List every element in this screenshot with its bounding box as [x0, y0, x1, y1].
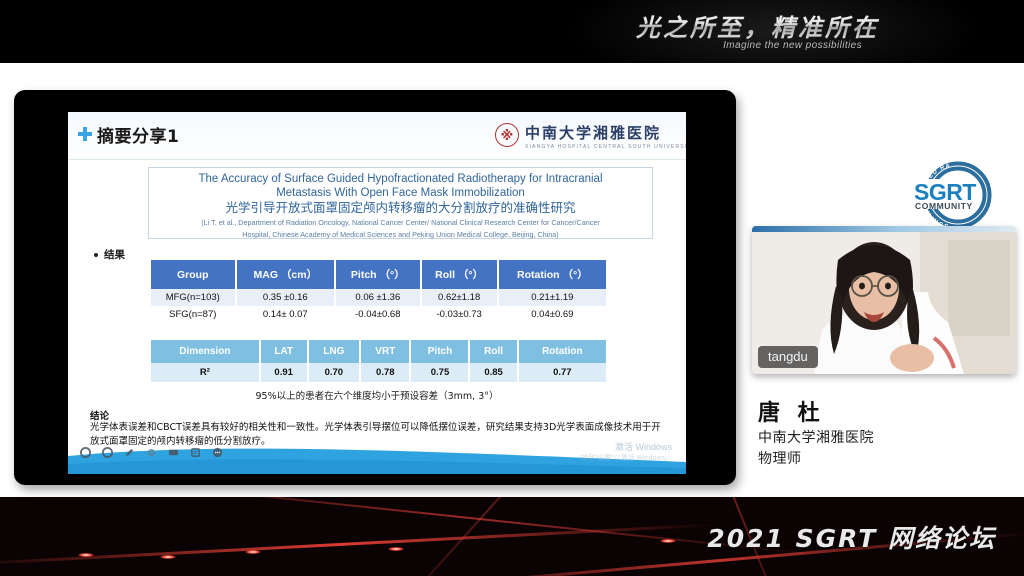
table-cell: 0.78 [360, 363, 410, 382]
table-cell: MFG(n=103) [151, 289, 236, 306]
sgrt-community-word: COMMUNITY [915, 201, 973, 211]
presenter-role: 物理师 [758, 448, 802, 468]
pointer-icon[interactable] [146, 447, 157, 458]
study-affiliation-line2: Hospital, Chinese Academy of Medical Sci… [155, 230, 646, 240]
column-header: Dimension [151, 340, 260, 363]
table-cell: 0.21±1.19 [498, 289, 606, 306]
table-cell: 0.70 [308, 363, 361, 382]
participant-name-tag: tangdu [758, 346, 818, 368]
watermark-line1: 激活 Windows [581, 442, 672, 453]
pen-icon[interactable] [124, 447, 135, 458]
bullet-dot-icon [94, 253, 98, 257]
table-cell: -0.03±0.73 [421, 306, 498, 323]
table-cell: SFG(n=87) [151, 306, 236, 323]
laser-beam [0, 523, 720, 566]
sgrt-community-logo: SURFACE GUIDED RADIATION THERAPY SGRT CO… [906, 159, 1002, 229]
column-header: Pitch [410, 340, 469, 363]
laser-dot [388, 547, 404, 551]
table-cell: 0.06 ±1.36 [335, 289, 421, 306]
taskbar-icons[interactable] [80, 447, 223, 458]
hospital-name-cn: 中南大学湘雅医院 [525, 122, 661, 143]
table-cell: 0.77 [518, 363, 606, 382]
study-affiliation-line1: (Li T. et al., Department of Radiation O… [155, 218, 646, 228]
brand-slogan-en: Imagine the new possibilities [723, 40, 862, 51]
column-header: Group [151, 260, 236, 289]
hospital-name-en: XIANGYA HOSPITAL CENTRAL SOUTH UNIVERSIT… [525, 144, 686, 150]
tolerance-note: 95%以上的患者在六个维度均小于预设容差（3mm, 3°） [68, 388, 686, 402]
table-row: SFG(n=87)0.14± 0.07-0.04±0.68-0.03±0.730… [151, 306, 606, 323]
column-header: Rotation （°） [498, 260, 606, 289]
table-cell: R² [151, 363, 260, 382]
windows-activation-watermark: 激活 Windows 转到"设置"以激活 Windows。 [581, 442, 672, 464]
table-cell: 0.85 [469, 363, 517, 382]
laser-dot [245, 550, 261, 554]
event-title: 2021 SGRT 网络论坛 [707, 519, 996, 555]
note-icon[interactable] [190, 447, 201, 458]
column-header: Rotation [518, 340, 606, 363]
slide-header: 摘要分享1 ※ 中南大学湘雅医院 XIANGYA HOSPITAL CENTRA… [68, 112, 686, 160]
table-cell: 0.35 ±0.16 [236, 289, 336, 306]
circle-icon[interactable] [80, 447, 91, 458]
top-branding-banner: 光之所至，精准所在 Imagine the new possibilities [0, 0, 1024, 63]
column-header: LAT [260, 340, 308, 363]
column-header: LNG [308, 340, 361, 363]
study-title-en-line2: Metastasis With Open Face Mask Immobiliz… [155, 186, 646, 200]
bottom-event-banner: 2021 SGRT 网络论坛 [0, 497, 1024, 576]
screen-icon[interactable] [168, 447, 179, 458]
table-header-row: DimensionLATLNGVRTPitchRollRotation [151, 340, 606, 363]
watermark-line2: 转到"设置"以激活 Windows。 [581, 453, 672, 464]
group-statistics-table: GroupMAG （cm）Pitch （°）Roll （°）Rotation （… [151, 260, 606, 323]
presenter-name: 唐 杜 [758, 395, 825, 427]
hospital-logo: ※ 中南大学湘雅医院 XIANGYA HOSPITAL CENTRAL SOUT… [495, 120, 680, 156]
column-header: Roll [469, 340, 517, 363]
dimension-r2-table: DimensionLATLNGVRTPitchRollRotation R²0.… [151, 340, 606, 382]
results-bullet: 结果 [94, 247, 125, 262]
hospital-seal-icon: ※ [495, 123, 519, 147]
presenter-organization: 中南大学湘雅医院 [758, 427, 874, 447]
circle-icon[interactable] [102, 447, 113, 458]
conclusion-heading: 结论 [90, 408, 109, 422]
table-cell: 0.75 [410, 363, 469, 382]
table-cell: 0.04±0.69 [498, 306, 606, 323]
column-header: VRT [360, 340, 410, 363]
table-row: MFG(n=103)0.35 ±0.160.06 ±1.360.62±1.180… [151, 289, 606, 306]
laser-dot [660, 539, 676, 543]
presentation-stage: 摘要分享1 ※ 中南大学湘雅医院 XIANGYA HOSPITAL CENTRA… [0, 63, 1024, 497]
column-header: Pitch （°） [335, 260, 421, 289]
table-cell: 0.14± 0.07 [236, 306, 336, 323]
table-row: R²0.910.700.780.750.850.77 [151, 363, 606, 382]
table-header-row: GroupMAG （cm）Pitch （°）Roll （°）Rotation （… [151, 260, 606, 289]
study-title-box: The Accuracy of Surface Guided Hypofract… [148, 167, 653, 239]
results-label: 结果 [104, 247, 125, 262]
slide-frame[interactable]: 摘要分享1 ※ 中南大学湘雅医院 XIANGYA HOSPITAL CENTRA… [14, 90, 736, 485]
video-top-strip [752, 226, 1016, 232]
column-header: Roll （°） [421, 260, 498, 289]
table-cell: 0.62±1.18 [421, 289, 498, 306]
table-cell: 0.91 [260, 363, 308, 382]
laser-dot [160, 555, 176, 559]
table-cell: -0.04±0.68 [335, 306, 421, 323]
plus-icon [77, 126, 93, 142]
study-title-en-line1: The Accuracy of Surface Guided Hypofract… [155, 172, 646, 186]
brand-slogan-cn: 光之所至，精准所在 [636, 8, 879, 43]
more-icon[interactable] [212, 447, 223, 458]
slide-content[interactable]: 摘要分享1 ※ 中南大学湘雅医院 XIANGYA HOSPITAL CENTRA… [68, 112, 686, 474]
column-header: MAG （cm） [236, 260, 336, 289]
laser-dot [78, 553, 94, 557]
presenter-video[interactable]: tangdu [752, 226, 1016, 374]
study-title-cn: 光学引导开放式面罩固定颅内转移瘤的大分割放疗的准确性研究 [155, 200, 646, 216]
slide-title: 摘要分享1 [97, 122, 179, 147]
